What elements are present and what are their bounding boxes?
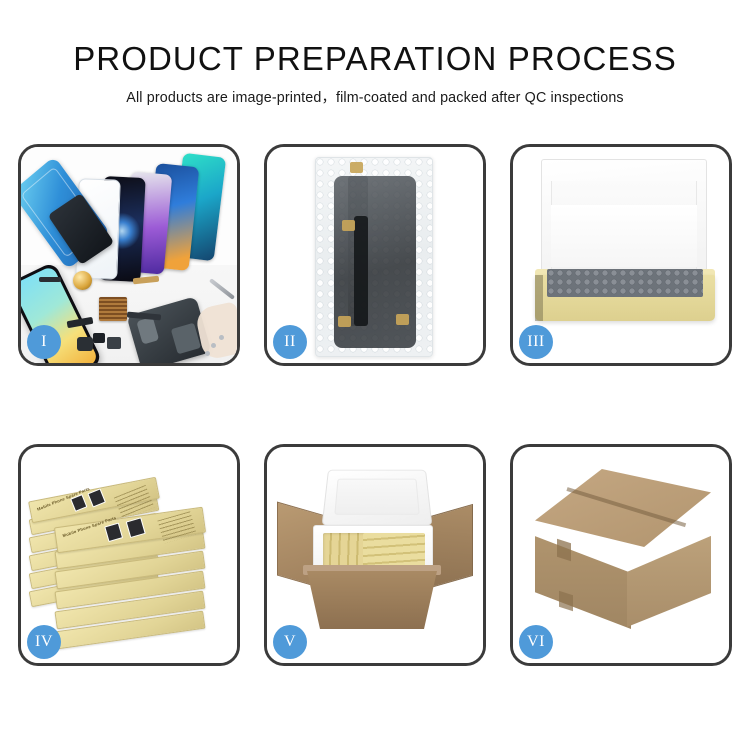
step-panel-6: VI: [510, 444, 732, 666]
step-badge-1: I: [27, 325, 61, 359]
step-badge-2: II: [273, 325, 307, 359]
speaker-icon: [39, 277, 61, 282]
page-title: PRODUCT PREPARATION PROCESS: [0, 42, 750, 77]
step-badge-4: IV: [27, 625, 61, 659]
step-panel-2: II: [264, 144, 486, 366]
small-part-icon: [93, 333, 105, 343]
packed-boxes-icon: [363, 533, 425, 569]
small-part-icon: [77, 337, 93, 351]
step-badge-3: III: [519, 325, 553, 359]
step-panel-1: I: [18, 144, 240, 366]
step-badge-5: V: [273, 625, 307, 659]
sealed-carton-icon: [527, 469, 723, 649]
carton-body-icon: [307, 571, 437, 629]
step-panel-3: III: [510, 144, 732, 366]
header: PRODUCT PREPARATION PROCESS All products…: [0, 0, 750, 107]
step-badge-6: VI: [519, 625, 553, 659]
bubble-wrap-bag-icon: [315, 157, 433, 357]
process-steps-grid: I II: [18, 144, 732, 672]
step-panel-5: V: [264, 444, 486, 666]
chip-grid-icon: [99, 297, 127, 321]
step-panel-4: Mobile Phone Spare Parts Mobile Phone Sp…: [18, 444, 240, 666]
small-part-icon: [107, 337, 121, 349]
wrapped-screens-stack-icon: [547, 269, 703, 297]
page-subtitle: All products are image-printed，film-coat…: [0, 86, 750, 107]
phone-screen-fan-icon: [89, 155, 239, 275]
copper-coil-icon: [73, 271, 92, 290]
retail-box-stack-icon: Mobile Phone Spare Parts Mobile Phone Sp…: [29, 465, 235, 655]
foam-lid-icon: [322, 470, 433, 526]
product-preparation-process-infographic: PRODUCT PREPARATION PROCESS All products…: [0, 0, 750, 750]
